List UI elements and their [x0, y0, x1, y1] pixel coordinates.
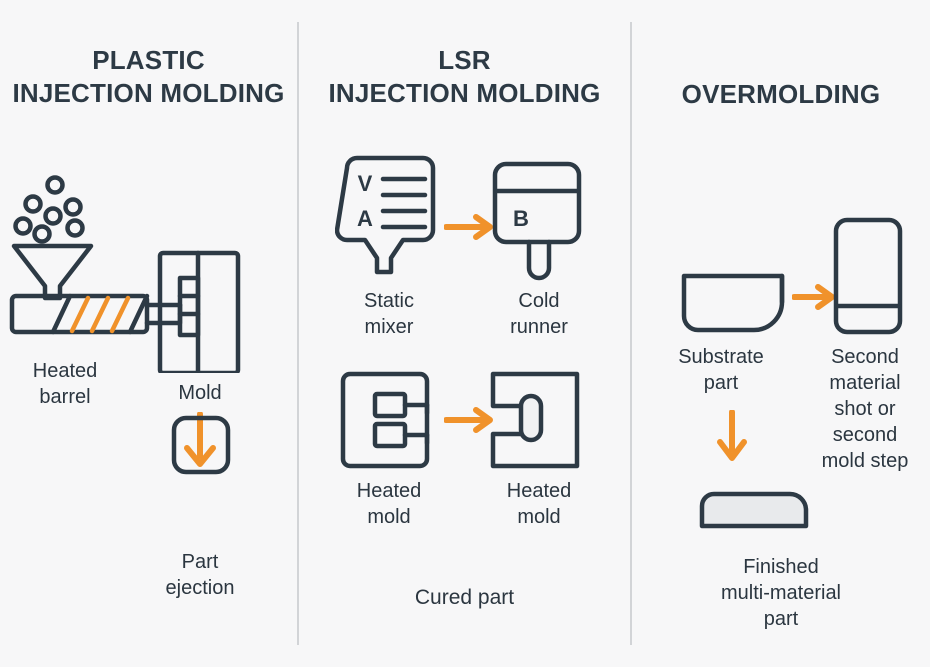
label-second-material: Second material shot or second mold step [800, 344, 930, 474]
label-finished-part: Finished multi-material part [646, 554, 916, 632]
column-overmolding: OVERMOLDING Substrate [632, 0, 930, 667]
infographic-canvas: PLASTIC INJECTION MOLDING [0, 0, 930, 667]
rounded-square-part-icon [150, 412, 250, 483]
column-plastic-injection-molding: PLASTIC INJECTION MOLDING [0, 0, 297, 667]
substrate-trough-icon [678, 268, 798, 343]
column-title-lsr: LSR INJECTION MOLDING [299, 44, 630, 110]
mixer-mark-v: V [358, 171, 373, 196]
label-substrate-part: Substrate part [646, 344, 796, 396]
heated-mold-core-icon [485, 368, 595, 477]
static-mixer-icon: V A [335, 152, 445, 287]
cold-runner-icon: B [485, 158, 595, 288]
heated-mold-cavity-icon [335, 368, 445, 477]
label-static-mixer: Static mixer [319, 288, 459, 340]
second-shot-block-icon [830, 214, 910, 343]
label-cold-runner: Cold runner [469, 288, 609, 340]
label-heated-mold-right: Heated mold [469, 478, 609, 530]
label-heated-barrel: Heated barrel [0, 358, 130, 410]
to-finished-arrow-icon [712, 410, 752, 473]
column-title-overmolding: OVERMOLDING [632, 78, 930, 111]
label-part-ejection: Part ejection [140, 549, 260, 601]
runner-mark-b: B [513, 206, 529, 231]
column-title-plastic: PLASTIC INJECTION MOLDING [0, 44, 297, 110]
label-mold: Mold [140, 380, 260, 406]
mixer-mark-a: A [357, 206, 373, 231]
column-lsr-injection-molding: LSR INJECTION MOLDING V A [299, 0, 630, 667]
finished-multi-material-part-icon [694, 488, 824, 541]
label-heated-mold-left: Heated mold [319, 478, 459, 530]
label-cured-part: Cured part [299, 585, 630, 611]
injection-molding-machine-icon [8, 168, 258, 378]
